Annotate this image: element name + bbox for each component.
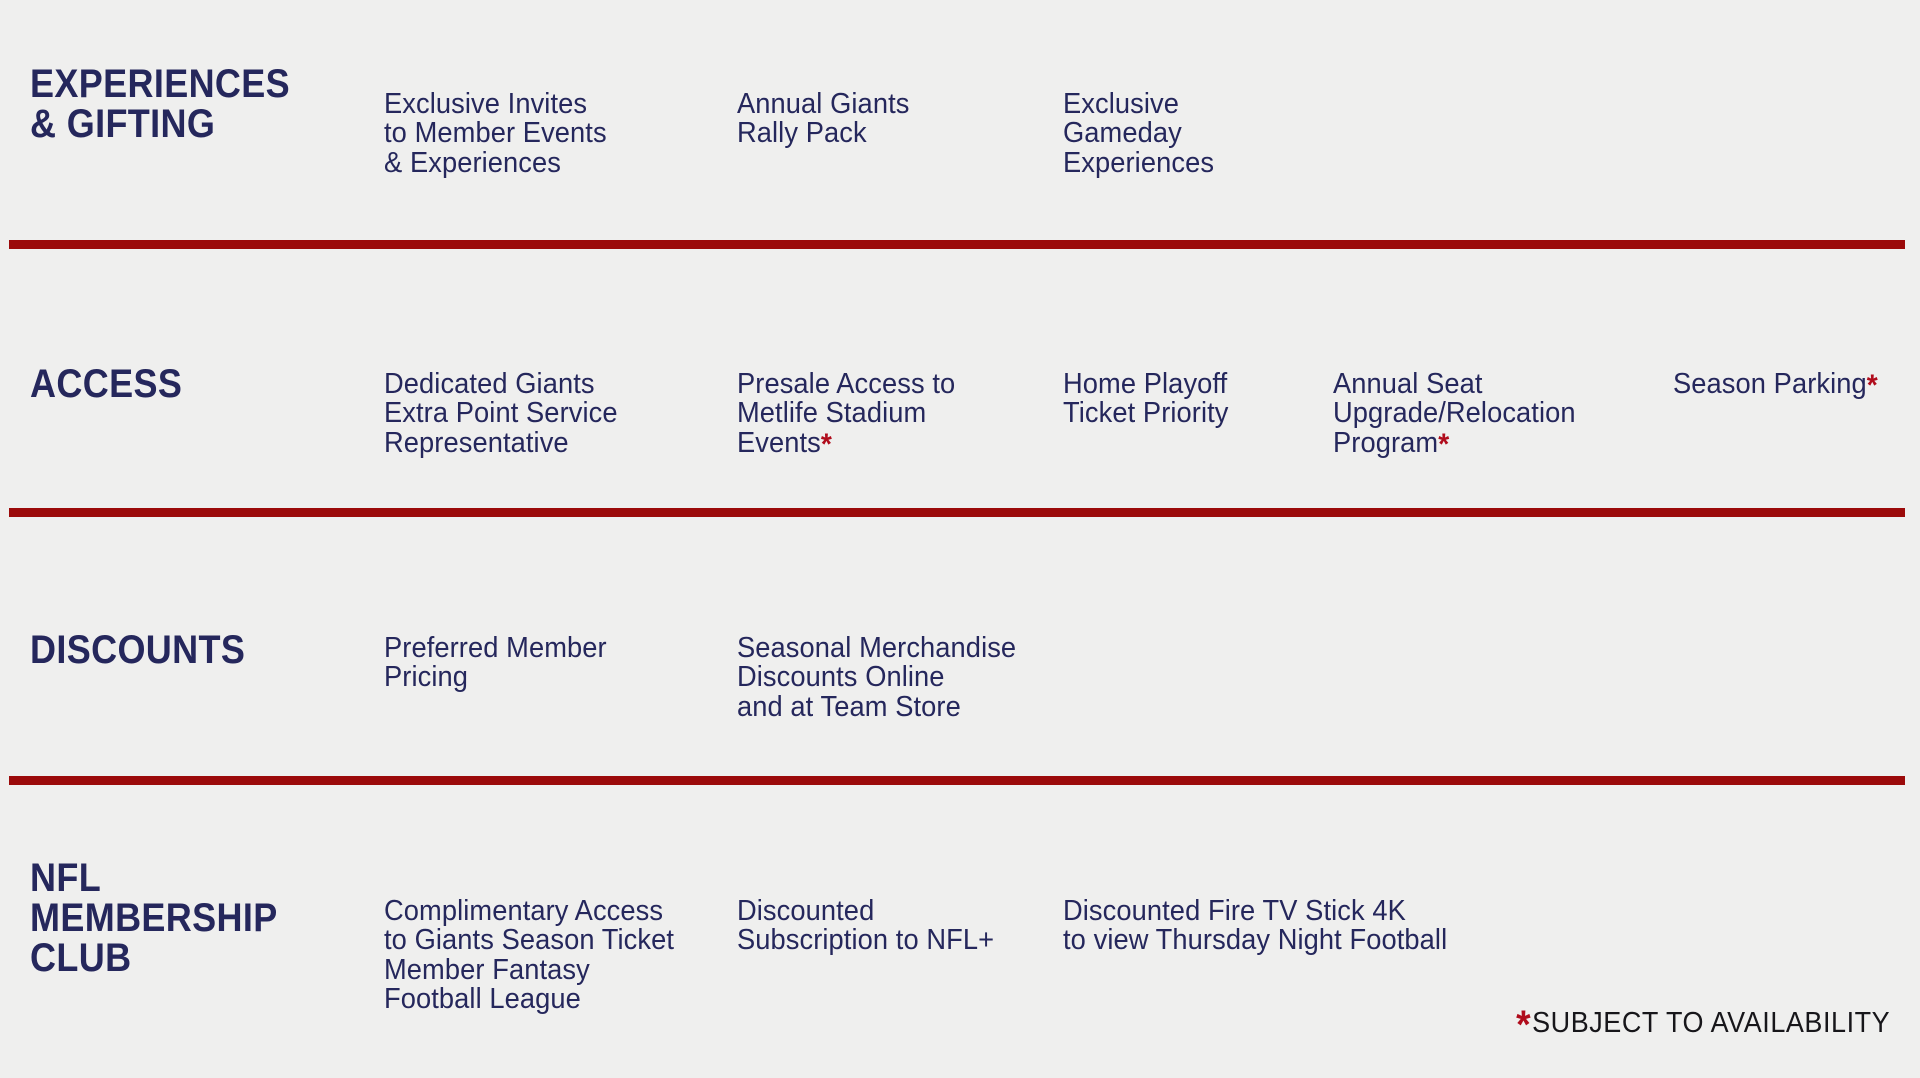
section-discounts: DISCOUNTS Preferred Member Pricing Seaso… bbox=[0, 582, 1920, 762]
benefit-item-text: Seasonal Merchandise Discounts Online an… bbox=[737, 632, 1016, 723]
section-nfl-membership-club: NFL MEMBERSHIP CLUB Complimentary Access… bbox=[0, 845, 1920, 1005]
section-access: ACCESS Dedicated Giants Extra Point Serv… bbox=[0, 318, 1920, 498]
benefit-item: Season Parking* bbox=[1673, 340, 1908, 399]
availability-asterisk-icon: * bbox=[1516, 1003, 1531, 1047]
benefit-item: Discounted Subscription to NFL+ bbox=[737, 867, 1038, 956]
benefit-item: Preferred Member Pricing bbox=[384, 604, 704, 693]
section-experiences-gifting: EXPERIENCES & GIFTING Exclusive Invites … bbox=[0, 38, 1920, 228]
benefit-item: Seasonal Merchandise Discounts Online an… bbox=[737, 604, 1038, 722]
benefit-item: Annual Seat Upgrade/Relocation Program* bbox=[1333, 340, 1643, 458]
benefit-item: Complimentary Access to Giants Season Ti… bbox=[384, 867, 704, 1015]
benefit-item: Discounted Fire TV Stick 4K to view Thur… bbox=[1063, 867, 1589, 956]
benefit-item-text: Exclusive Invites to Member Events & Exp… bbox=[384, 88, 607, 179]
section-divider bbox=[9, 240, 1905, 249]
benefit-item: Annual Giants Rally Pack bbox=[737, 60, 1038, 149]
benefit-item: Home Playoff Ticket Priority bbox=[1063, 340, 1317, 429]
benefit-item-text: Complimentary Access to Giants Season Ti… bbox=[384, 895, 674, 1016]
section-divider bbox=[9, 776, 1905, 785]
benefit-item-text: Exclusive Gameday Experiences bbox=[1063, 88, 1214, 179]
benefit-item-text: Discounted Fire TV Stick 4K to view Thur… bbox=[1063, 895, 1447, 957]
benefit-item: Exclusive Invites to Member Events & Exp… bbox=[384, 60, 704, 178]
footnote-subject-to-availability: *SUBJECT TO AVAILABILITY bbox=[1516, 1005, 1890, 1045]
benefit-item: Presale Access to Metlife Stadium Events… bbox=[737, 340, 1038, 458]
section-heading-discounts: DISCOUNTS bbox=[30, 630, 327, 670]
section-heading-nfl-membership-club: NFL MEMBERSHIP CLUB bbox=[30, 858, 327, 978]
benefit-item-text: Preferred Member Pricing bbox=[384, 632, 607, 694]
availability-asterisk-icon: * bbox=[1867, 369, 1878, 402]
benefit-item-text: Annual Seat Upgrade/Relocation Program bbox=[1333, 368, 1576, 459]
benefit-item: Exclusive Gameday Experiences bbox=[1063, 60, 1317, 178]
section-heading-experiences-gifting: EXPERIENCES & GIFTING bbox=[30, 64, 327, 144]
section-divider bbox=[9, 508, 1905, 517]
benefit-item-text: Dedicated Giants Extra Point Service Rep… bbox=[384, 368, 618, 459]
section-heading-access: ACCESS bbox=[30, 364, 327, 404]
membership-benefits-table: EXPERIENCES & GIFTING Exclusive Invites … bbox=[0, 0, 1920, 1078]
benefit-item: Dedicated Giants Extra Point Service Rep… bbox=[384, 340, 704, 458]
availability-asterisk-icon: * bbox=[1438, 428, 1449, 461]
footnote-text: SUBJECT TO AVAILABILITY bbox=[1532, 1007, 1890, 1039]
benefit-item-text: Annual Giants Rally Pack bbox=[737, 88, 909, 150]
benefit-item-text: Discounted Subscription to NFL+ bbox=[737, 895, 994, 957]
benefit-item-text: Presale Access to Metlife Stadium Events bbox=[737, 368, 955, 459]
availability-asterisk-icon: * bbox=[821, 428, 832, 461]
benefit-item-text: Season Parking bbox=[1673, 368, 1867, 400]
benefit-item-text: Home Playoff Ticket Priority bbox=[1063, 368, 1228, 430]
